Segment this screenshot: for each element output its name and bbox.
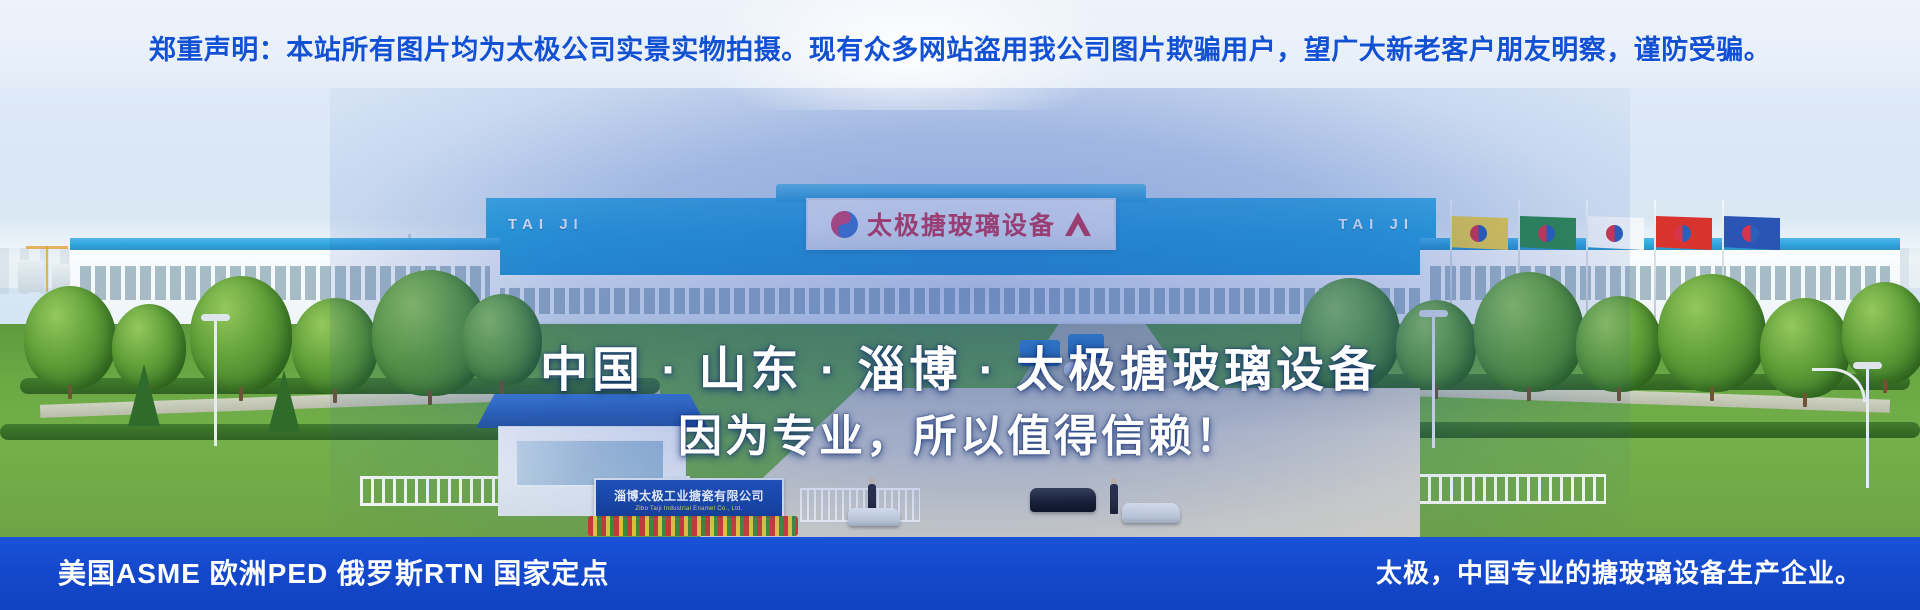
notice-text: 郑重声明：本站所有图片均为太极公司实景实物拍摄。现有众多网站盗用我公司图片欺骗用… [0,28,1920,67]
certifications-text: 美国ASME 欧洲PED 俄罗斯RTN 国家定点 [58,537,609,610]
headline-overlay: 中国 · 山东 · 淄博 · 太极搪玻璃设备 因为专业，所以值得信赖！ [0,88,1920,537]
headline-line-1: 中国 · 山东 · 淄博 · 太极搪玻璃设备 [0,330,1920,400]
tagline-text: 太极，中国专业的搪玻璃设备生产企业。 [1376,537,1862,610]
company-banner: 郑重声明：本站所有图片均为太极公司实景实物拍摄。现有众多网站盗用我公司图片欺骗用… [0,0,1920,610]
bottom-blue-bar: 美国ASME 欧洲PED 俄罗斯RTN 国家定点 太极，中国专业的搪玻璃设备生产… [0,537,1920,610]
headline-line-2: 因为专业，所以值得信赖！ [0,400,1920,464]
notice-strip: 郑重声明：本站所有图片均为太极公司实景实物拍摄。现有众多网站盗用我公司图片欺骗用… [0,0,1920,88]
